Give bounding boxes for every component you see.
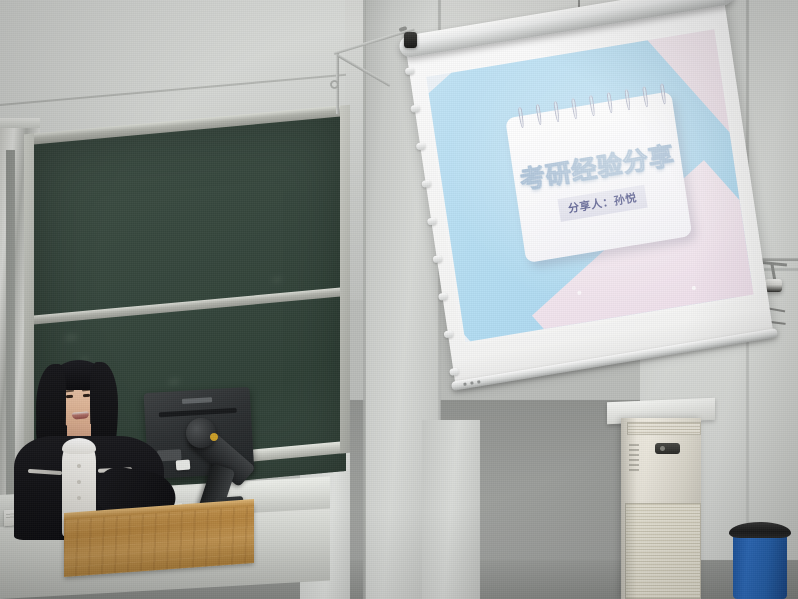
column-left-edge xyxy=(363,0,366,599)
blouse-button xyxy=(77,480,81,484)
classroom-photo-scene: 考研经验分享 分享人：孙悦 Lecture hall with projecti… xyxy=(0,0,798,599)
pull-down-projection-screen[interactable]: 考研经验分享 分享人：孙悦 xyxy=(404,0,779,402)
screen-edge-tab xyxy=(449,368,459,376)
chalkboard-rail-right xyxy=(340,105,350,454)
chalk-smudge xyxy=(272,277,282,283)
spiral-ring xyxy=(518,107,525,128)
spiral-ring xyxy=(535,104,542,125)
spiral-ring xyxy=(642,86,649,107)
spiral-ring xyxy=(624,89,631,110)
screen-bar-notch xyxy=(470,381,473,384)
spiral-ring xyxy=(606,92,613,113)
blue-trash-can xyxy=(733,528,787,599)
spiral-ring xyxy=(553,101,560,122)
trash-bag xyxy=(729,522,791,538)
screen-bar-notch xyxy=(477,380,480,383)
monitor-brand-logo xyxy=(182,397,212,404)
screen-edge-tab xyxy=(438,292,448,300)
screen-mount-block xyxy=(404,32,417,48)
ac-ir-receiver xyxy=(660,446,665,451)
monitor-arm-accent xyxy=(210,433,218,441)
spiral-ring xyxy=(571,98,578,119)
chalkboard-rail-middle xyxy=(28,287,346,325)
blouse-button xyxy=(77,464,81,468)
notebook-card: 考研经验分享 分享人：孙悦 xyxy=(505,91,692,263)
chalk-smudge xyxy=(64,333,78,341)
screen-edge-tab xyxy=(416,142,426,150)
ac-shadow-overlay xyxy=(621,418,637,599)
ac-top-vent xyxy=(627,422,701,435)
spiral-ring xyxy=(589,95,596,116)
screen-bar-notch xyxy=(463,382,466,385)
bracket-ring xyxy=(330,80,339,89)
blouse-button xyxy=(77,496,81,500)
column-base-right xyxy=(422,420,480,599)
screen-edge-tab xyxy=(405,67,415,75)
screen-edge-tab xyxy=(432,255,442,263)
screen-edge-tab xyxy=(427,217,437,225)
projected-slide: 考研经验分享 分享人：孙悦 xyxy=(426,29,753,342)
slide-subtitle: 分享人：孙悦 xyxy=(558,185,648,222)
screen-edge-tab xyxy=(410,104,420,112)
ac-control-panel xyxy=(655,443,680,454)
screen-edge-tab xyxy=(421,180,431,188)
monitor-cable-plug xyxy=(176,460,191,471)
presenter-eye-left xyxy=(66,395,73,398)
screen-edge-tab xyxy=(444,330,454,338)
presenter-collar xyxy=(62,438,96,454)
